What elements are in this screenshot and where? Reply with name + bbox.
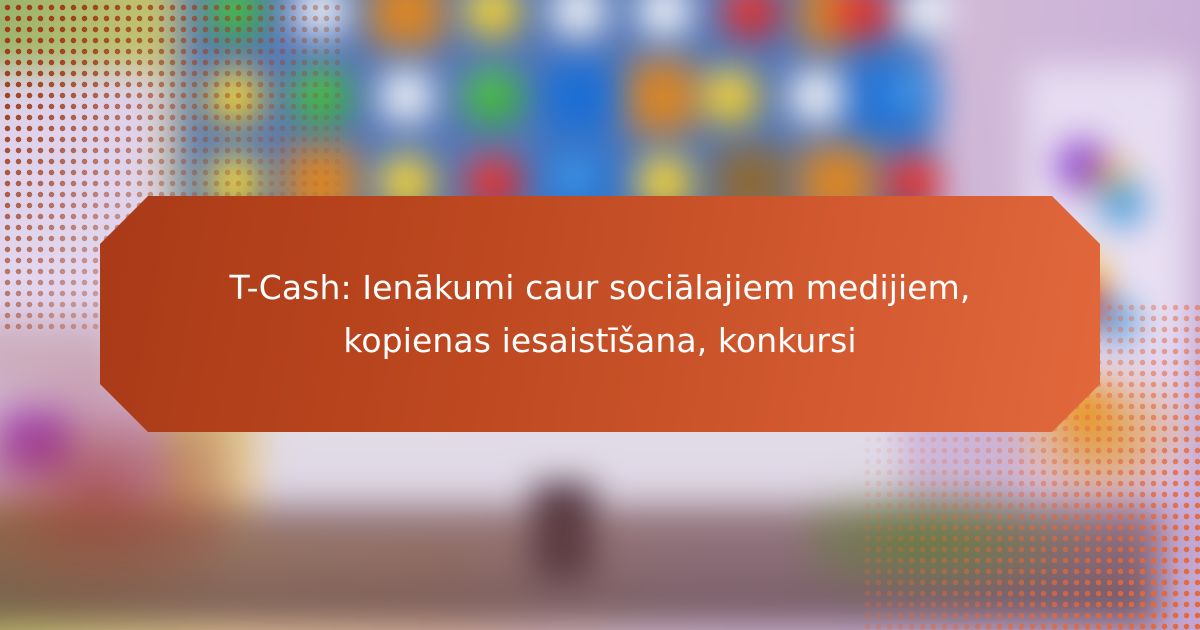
gem-green [293, 69, 349, 125]
item-blue [1098, 301, 1136, 339]
gem-white [789, 69, 845, 125]
board-cell-orange [629, 61, 701, 133]
gem-green [465, 69, 521, 125]
gem-blue [885, 69, 941, 125]
title-banner: T-Cash: Ienākumi caur sociālajiem mediji… [100, 196, 1100, 432]
page-title: T-Cash: Ienākumi caur sociālajiem mediji… [130, 261, 1070, 368]
social-share-card: T-Cash: Ienākumi caur sociālajiem mediji… [0, 0, 1200, 630]
gem-yellow [703, 69, 759, 125]
board-cell-blue [543, 61, 615, 133]
board-cell-orange [371, 0, 443, 47]
gem-yellow [207, 69, 263, 125]
gem-white [379, 69, 435, 125]
item-blue [1100, 181, 1144, 225]
